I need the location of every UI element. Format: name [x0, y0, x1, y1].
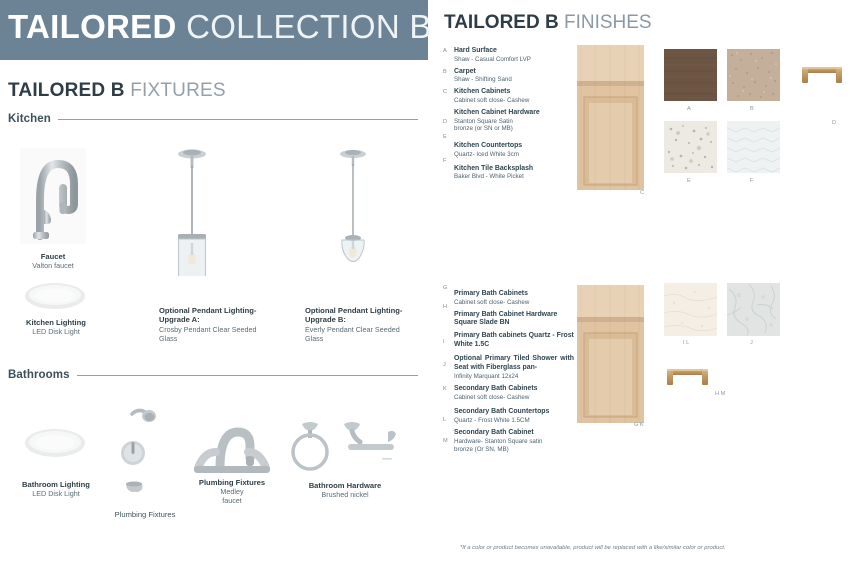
finishes-title-grey: FINISHES	[564, 12, 652, 33]
caption-faucet-name: Faucet	[10, 252, 96, 261]
finish-name: Optional Primary Tiled Shower with Seat …	[454, 355, 574, 373]
swatch-tile-infinity-marquant	[727, 283, 780, 336]
finish-item-j: J Optional Primary Tiled Shower with Sea…	[454, 355, 574, 380]
caption-pendant-a-name: Optional Pendant Lighting- Upgrade A:	[159, 306, 264, 325]
finish-name: Kitchen Cabinet Hardware	[454, 109, 574, 118]
swatch-primary-bath-cabinet-door	[577, 285, 644, 423]
bathrooms-divider: Bathrooms	[8, 369, 418, 381]
banner-title-bold: TAILORED	[8, 8, 177, 45]
finish-name: Kitchen Countertops	[454, 142, 574, 151]
finish-desc: Quartz - Frost White 1.5CM	[454, 417, 574, 425]
banner-title-light: COLLECTION B	[186, 8, 432, 45]
caption-plumbing-fixtures-lav-desc: faucet	[182, 496, 282, 505]
caption-kitchen-lighting-desc: LED Disk Light	[10, 327, 102, 336]
caption-bathroom-lighting-name: Bathroom Lighting	[12, 480, 100, 489]
finish-name: Kitchen Tile Backsplash	[454, 165, 574, 174]
swatch-label-c: C	[640, 190, 644, 196]
finish-item-c: C Kitchen Cabinets Cabinet soft close- C…	[454, 88, 574, 105]
swatch-tile-white-picket	[727, 121, 780, 173]
swatch-label-d: D	[832, 120, 836, 126]
finish-letter: F	[443, 158, 446, 164]
finish-letter: K	[443, 386, 447, 392]
lav-faucet-icon	[190, 418, 274, 480]
disk-light-icon	[24, 428, 86, 458]
finish-desc: Cabinet soft close- Cashew	[454, 394, 574, 402]
finish-item-a: A Hard Surface Shaw - Casual Comfort LVP	[454, 47, 574, 64]
swatch-label-h-m: H M	[715, 391, 725, 397]
finish-desc: Baker Blvd - White Picket	[454, 173, 574, 181]
finish-desc: bronze (or SN or MB)	[454, 125, 574, 133]
finish-name-inline: Hardware- Stanton Square satin	[454, 438, 574, 446]
finish-name: Carpet	[454, 68, 574, 77]
footnote-disclaimer: *If a color or product becomes unavailab…	[460, 545, 726, 551]
finish-desc: Cabinet soft close- Cashew	[454, 299, 574, 307]
caption-bathroom-lighting-desc: LED Disk Light	[12, 489, 100, 498]
finish-name-inline: Stanton Square Satin	[454, 118, 574, 126]
towel-hardware-icon	[288, 418, 398, 476]
swatch-cabinet-hardware-pull	[796, 58, 848, 92]
caption-bathroom-hardware-name: Bathroom Hardware	[290, 481, 400, 490]
bathrooms-divider-label: Bathrooms	[8, 369, 70, 381]
caption-bathroom-hardware: Bathroom Hardware Brushed nickel	[290, 481, 400, 499]
finish-item-i: I Primary Bath cabinets Quartz - Frost W…	[454, 332, 574, 350]
caption-pendant-a: Optional Pendant Lighting- Upgrade A: Cr…	[159, 306, 264, 343]
swatch-label-a: A	[687, 106, 691, 112]
caption-plumbing-fixtures-shower: Plumbing Fixtures	[100, 510, 190, 519]
swatch-label-e: E	[687, 178, 691, 184]
caption-pendant-b: Optional Pendant Lighting- Upgrade B: Ev…	[305, 306, 410, 343]
finish-letter: L	[443, 417, 446, 423]
finish-name: Primary Bath Cabinets	[454, 290, 574, 299]
swatch-quartz-frost-white	[664, 283, 717, 336]
collection-board-page: TAILORED COLLECTION B TAILORED B FIXTURE…	[0, 0, 853, 569]
finish-name: Secondary Bath Countertops	[454, 408, 574, 417]
caption-faucet-desc: Valton faucet	[10, 261, 96, 270]
swatch-carpet-shifting-sand	[727, 49, 780, 101]
finish-letter: M	[443, 438, 448, 444]
caption-faucet: Faucet Valton faucet	[10, 252, 96, 270]
finish-item-m: M Secondary Bath Cabinet Hardware- Stant…	[454, 429, 574, 453]
caption-plumbing-fixtures-lav-name: Plumbing Fixtures	[182, 478, 282, 487]
kitchen-divider-line	[58, 119, 418, 120]
caption-plumbing-fixtures-shower-name: Plumbing Fixtures	[100, 510, 190, 519]
pendant-schoolhouse-icon	[325, 146, 381, 282]
bathrooms-divider-line	[77, 375, 418, 376]
header-banner: TAILORED COLLECTION B	[0, 0, 428, 60]
caption-pendant-a-desc: Crosby Pendant Clear Seeded Glass	[159, 325, 264, 343]
pendant-cylinder-icon	[168, 146, 216, 276]
swatch-label-b: B	[750, 106, 754, 112]
kitchen-divider-label: Kitchen	[8, 113, 51, 125]
caption-pendant-b-desc: Everly Pendant Clear Seeded Glass	[305, 325, 410, 343]
finish-desc: Quartz- Iced White 3cm	[454, 151, 574, 159]
finish-letter: J	[443, 362, 446, 368]
finish-letter: D	[443, 119, 447, 125]
finish-item-b: B Carpet Shaw - Shifting Sand	[454, 68, 574, 85]
finish-letter: B	[443, 69, 447, 75]
finishes-title-dark: TAILORED B	[444, 12, 559, 33]
caption-plumbing-fixtures-lav: Plumbing Fixtures Medley faucet	[182, 478, 282, 505]
finish-name: Kitchen Cabinets	[454, 88, 574, 97]
finish-name: Secondary Bath Cabinets	[454, 385, 574, 394]
finish-item-e: E Kitchen Countertops Quartz- Iced White…	[454, 142, 574, 159]
caption-bathroom-lighting: Bathroom Lighting LED Disk Light	[12, 480, 100, 498]
right-column: TAILORED B FINISHES A Hard Surface Shaw …	[428, 0, 853, 569]
finish-item-h: H Primary Bath Cabinet Hardware Square S…	[454, 311, 574, 329]
finish-desc: bronze (Or SN, MB)	[454, 446, 574, 454]
finish-letter: A	[443, 48, 447, 54]
faucet-icon	[20, 148, 86, 244]
finish-desc: Shaw - Casual Comfort LVP	[454, 56, 574, 64]
finish-letter: H	[443, 304, 447, 310]
swatch-hard-surface-lvp	[664, 49, 717, 101]
swatch-cabinet-door-cashew	[577, 45, 644, 190]
finish-name: Secondary Bath Cabinet	[454, 429, 574, 438]
finish-item-f: F Kitchen Tile Backsplash Baker Blvd - W…	[454, 165, 574, 182]
disk-light-icon	[24, 282, 86, 310]
swatch-label-j: J	[750, 340, 753, 346]
fixtures-title-grey: FIXTURES	[130, 80, 226, 101]
finish-desc: Infinity Marquant 12x24	[454, 373, 574, 381]
swatch-countertop-iced-white	[664, 121, 717, 173]
swatch-label-f: F	[750, 178, 753, 184]
finishes-list-bottom: G Primary Bath Cabinets Cabinet soft clo…	[454, 290, 574, 458]
finish-item-l: L Secondary Bath Countertops Quartz - Fr…	[454, 408, 574, 425]
finish-name: Primary Bath cabinets Quartz - Frost Whi…	[454, 332, 574, 350]
fixtures-section-title: TAILORED B FIXTURES	[8, 80, 226, 102]
swatch-label-i-l: I L	[683, 340, 689, 346]
fixtures-title-dark: TAILORED B	[8, 80, 125, 101]
swatch-bath-hardware-pull	[662, 360, 714, 394]
swatch-label-g-k: G K	[634, 422, 644, 428]
finish-letter: C	[443, 89, 447, 95]
finish-letter: E	[443, 134, 447, 140]
finish-desc: Shaw - Shifting Sand	[454, 76, 574, 84]
kitchen-divider: Kitchen	[8, 113, 418, 125]
caption-kitchen-lighting: Kitchen Lighting LED Disk Light	[10, 318, 102, 336]
left-column: TAILORED COLLECTION B TAILORED B FIXTURE…	[0, 0, 428, 569]
caption-pendant-b-name: Optional Pendant Lighting- Upgrade B:	[305, 306, 410, 325]
finishes-section-title: TAILORED B FINISHES	[444, 12, 652, 34]
finish-desc: Cabinet soft close- Cashew	[454, 97, 574, 105]
caption-plumbing-fixtures-lav-inline: Medley	[182, 487, 282, 496]
banner-title: TAILORED COLLECTION B	[8, 8, 432, 46]
caption-bathroom-hardware-desc: Brushed nickel	[290, 490, 400, 499]
finish-letter: I	[443, 339, 445, 345]
finish-letter: G	[443, 285, 447, 291]
finish-item-d: D Kitchen Cabinet Hardware Stanton Squar…	[454, 109, 574, 133]
finish-item-g: G Primary Bath Cabinets Cabinet soft clo…	[454, 290, 574, 307]
shower-trim-icon	[112, 398, 172, 498]
finish-name: Hard Surface	[454, 47, 574, 56]
caption-kitchen-lighting-name: Kitchen Lighting	[10, 318, 102, 327]
finishes-list-top: A Hard Surface Shaw - Casual Comfort LVP…	[454, 47, 574, 185]
finish-item-k: K Secondary Bath Cabinets Cabinet soft c…	[454, 385, 574, 402]
finish-name: Primary Bath Cabinet Hardware Square Sla…	[454, 311, 574, 329]
